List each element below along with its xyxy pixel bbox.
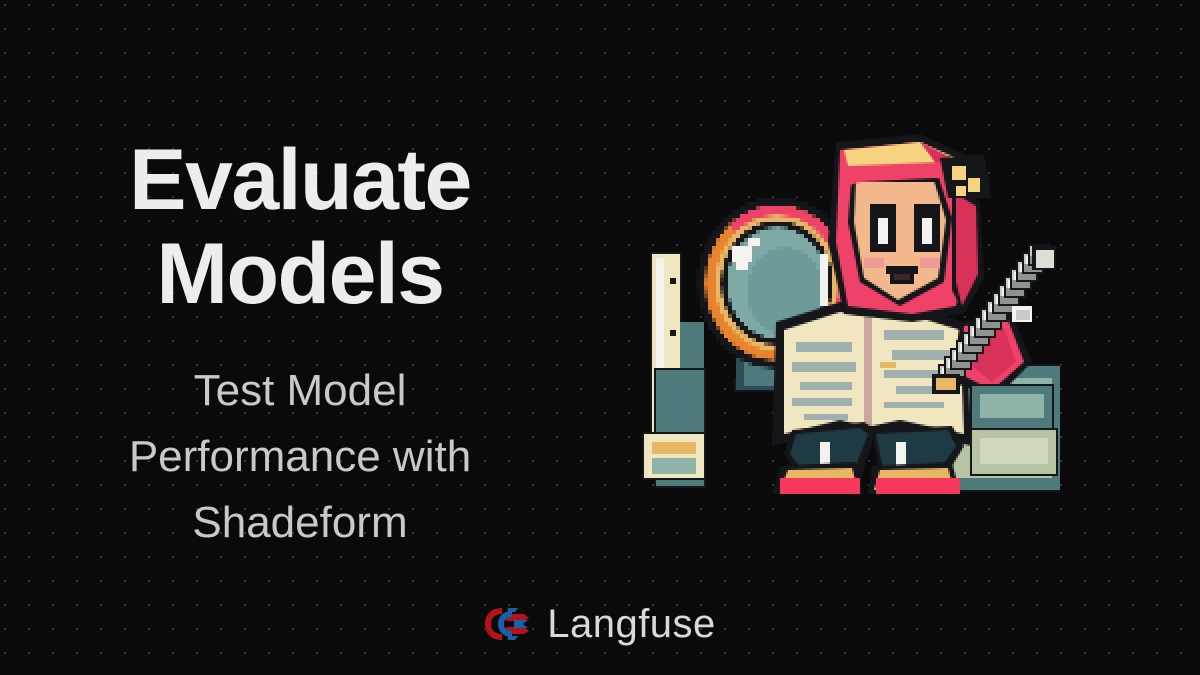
hero-illustration (620, 130, 1060, 500)
brand-name: Langfuse (547, 604, 716, 644)
slide-canvas: Evaluate Models Test Model Performance w… (0, 0, 1200, 675)
langfuse-logo-icon (484, 605, 530, 643)
brand-footer: Langfuse (0, 604, 1200, 644)
page-title: Evaluate Models (0, 133, 600, 321)
pixel-art-scholar-icon (620, 130, 1060, 500)
text-block: Evaluate Models Test Model Performance w… (0, 0, 600, 675)
page-subtitle: Test Model Performance with Shadeform (0, 358, 600, 556)
